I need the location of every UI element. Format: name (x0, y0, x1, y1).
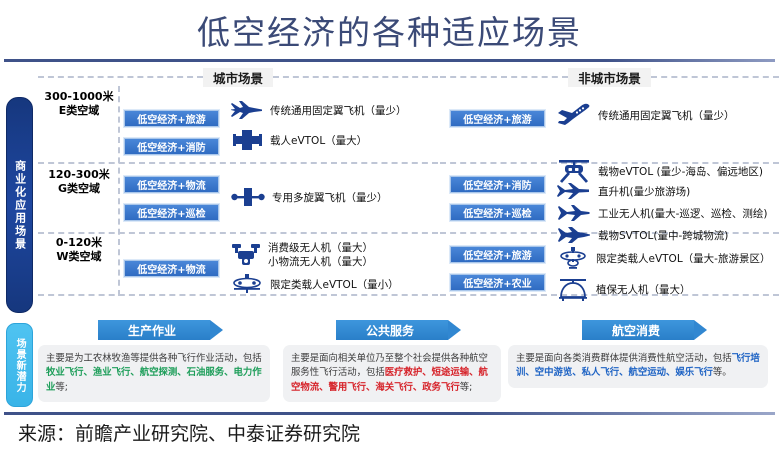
entry-nonurban-cargo-evtol-text: 载物eVTOL (量少-海岛、偏远地区) (598, 164, 763, 179)
entry-nonurban-agri-drone-text: 植保无人机（量大） (596, 282, 691, 297)
entry-urban-consumer-drone-lines: 消费级无人机（量大） 小物流无人机（量大） (268, 241, 373, 269)
desc-aviation-consumption: 主要是面向各类消费群体提供消费性航空活动，包括飞行培训、空中游览、私人飞行、航空… (508, 345, 768, 388)
slide-root: 低空经济的各种适应场景 商业化应用场景 场景新潜力 城市场景 (0, 0, 779, 457)
diagram-body: 商业化应用场景 场景新潜力 城市场景 300-1000米 E类空域 (0, 64, 779, 410)
entry-nonurban-limited-evtol: 限定类载人eVTOL（量大-旅游景区） (556, 246, 770, 270)
scenario-matrix: 城市场景 300-1000米 E类空域 120-300米 G类空域 0-120米 (38, 64, 779, 318)
entry-nonurban-helicopter-text: 直升机(量少旅游场) (598, 184, 690, 199)
banner-production: 生产作业 (98, 320, 210, 340)
footer-divider (4, 412, 775, 415)
altitude-label-e: 300-1000米 E类空域 (38, 90, 120, 118)
entry-nonurban-industrial-drone-text: 工业无人机(量大-巡逻、巡检、测绘) (598, 206, 767, 221)
header-rule-right (273, 76, 438, 78)
entry-urban-limited-evtol-text: 限定类载人eVTOL（量小） (270, 277, 399, 292)
entry-nonurban-cargo-evtol: 载物eVTOL (量少-海岛、偏远地区) (556, 158, 763, 184)
desc-production-p1: 主要是为工农林牧渔等提供各种飞行作业活动，包括 (46, 353, 262, 364)
quadcopter-drone-icon (230, 241, 262, 269)
altitude-label-w: 0-120米 W类空域 (38, 236, 120, 264)
header-rule-left (38, 76, 203, 78)
entry-nonurban-airliner: 传统通用固定翼飞机（量少） (556, 102, 735, 128)
urban-section-header: 城市场景 (38, 68, 438, 86)
entry-urban-evtol: 载人eVTOL（量大） (230, 128, 367, 152)
entry-urban-consumer-drone: 消费级无人机（量大） 小物流无人机（量大） (230, 241, 373, 269)
header-rule-left-2 (440, 76, 568, 78)
airliner-icon (556, 102, 592, 128)
potential-column-aviation-consumption: 航空消费 主要是面向各类消费群体提供消费性航空活动，包括飞行培训、空中游览、私人… (508, 320, 768, 410)
entry-nonurban-helicopter: 直升机(量少旅游场) (556, 182, 690, 200)
sidebar-commercial-scenarios: 商业化应用场景 (6, 97, 33, 313)
banner-production-wrap: 生产作业 (98, 320, 210, 340)
desc-aviation-p2: 等。 (713, 367, 732, 378)
cargo-evtol-icon (556, 158, 592, 184)
entry-nonurban-agri-drone: 植保无人机（量大） (556, 276, 691, 302)
altitude-label-g: 120-300米 G类空域 (38, 168, 120, 196)
nonurban-section-label: 非城市场景 (568, 68, 651, 87)
desc-production-hl: 牧业飞行、渔业飞行、航空探测、石油服务、电力作业 (46, 367, 262, 392)
altitude-airspace-w: W类空域 (38, 250, 120, 264)
tag-nonurban-inspection[interactable]: 低空经济+巡检 (450, 204, 545, 221)
tag-urban-firefighting[interactable]: 低空经济+消防 (124, 138, 219, 155)
evtol-cross-icon (230, 128, 264, 152)
nonurban-section-header: 非城市场景 (440, 68, 779, 86)
altitude-airspace-e: E类空域 (38, 104, 120, 118)
entry-nonurban-industrial-drone: 工业无人机(量大-巡逻、巡检、测绘) (556, 204, 767, 222)
entry-nonurban-cargo-svtol-text: 载物SVTOL(量中-跨城物流) (598, 228, 728, 243)
agri-drone-icon (556, 276, 590, 302)
altitude-range-g: 120-300米 (38, 168, 120, 182)
entry-urban-multirotor-text: 专用多旋翼飞机（量少） (272, 190, 388, 205)
desc-production-p2: 等; (55, 382, 68, 393)
entry-urban-consumer-drone-line1: 消费级无人机（量大） (268, 241, 373, 255)
limited-evtol-icon (230, 273, 264, 295)
altitude-airspace-g: G类空域 (38, 182, 120, 196)
urban-section-label: 城市场景 (203, 68, 273, 87)
entry-urban-limited-evtol: 限定类载人eVTOL（量小） (230, 273, 399, 295)
entry-urban-consumer-drone-line2: 小物流无人机（量大） (268, 255, 373, 269)
helicopter-plane-icon (556, 182, 592, 200)
tag-urban-inspection[interactable]: 低空经济+巡检 (124, 204, 219, 221)
banner-aviation-wrap: 航空消费 (582, 320, 694, 340)
entry-nonurban-limited-evtol-text: 限定类载人eVTOL（量大-旅游景区） (596, 251, 770, 266)
entry-urban-evtol-text: 载人eVTOL（量大） (270, 133, 367, 148)
tag-nonurban-tourism[interactable]: 低空经济+旅游 (450, 110, 545, 127)
tag-urban-logistics[interactable]: 低空经济+物流 (124, 176, 219, 193)
entry-nonurban-cargo-svtol: 载物SVTOL(量中-跨城物流) (556, 226, 728, 244)
header-rule-right-2 (651, 76, 779, 78)
tag-urban-logistics-2[interactable]: 低空经济+物流 (124, 260, 219, 277)
potential-column-production: 生产作业 主要是为工农林牧渔等提供各种飞行作业活动，包括牧业飞行、渔业飞行、航空… (38, 320, 270, 410)
sidebar-commercial-label: 商业化应用场景 (13, 160, 25, 251)
banner-public-service-wrap: 公共服务 (336, 320, 448, 340)
nonurban-column: 非城市场景 低空经济+旅游 低空经济+消防 低空经济+巡检 低空经济+旅游 低空… (440, 64, 779, 318)
fighter-jet-icon (230, 98, 264, 122)
title-divider (4, 59, 775, 62)
entry-urban-fixedwing: 传统通用固定翼飞机（量少） (230, 98, 407, 122)
banner-aviation-consumption: 航空消费 (582, 320, 694, 340)
page-title: 低空经济的各种适应场景 (0, 0, 779, 60)
urban-column: 城市场景 300-1000米 E类空域 120-300米 G类空域 0-120米 (38, 64, 438, 318)
tag-nonurban-firefighting[interactable]: 低空经济+消防 (450, 176, 545, 193)
multirotor-icon (230, 186, 266, 208)
industrial-drone-icon (556, 204, 592, 222)
entry-urban-fixedwing-text: 传统通用固定翼飞机（量少） (270, 103, 407, 118)
tag-nonurban-tourism-2[interactable]: 低空经济+旅游 (450, 246, 545, 263)
source-text: 来源：前瞻产业研究院、中泰证券研究院 (18, 419, 360, 446)
sidebar-new-potential: 场景新潜力 (6, 323, 33, 407)
desc-production: 主要是为工农林牧渔等提供各种飞行作业活动，包括牧业飞行、渔业飞行、航空探测、石油… (38, 345, 270, 402)
potential-column-public-service: 公共服务 主要是面向相关单位乃至整个社会提供各种航空服务性飞行活动，包括医疗救护… (283, 320, 501, 410)
potential-columns: 生产作业 主要是为工农林牧渔等提供各种飞行作业活动，包括牧业飞行、渔业飞行、航空… (38, 320, 779, 410)
banner-public-service: 公共服务 (336, 320, 448, 340)
limited-evtol-outline-icon (556, 246, 590, 270)
altitude-range-w: 0-120米 (38, 236, 120, 250)
cargo-svtol-icon (556, 226, 592, 244)
tag-nonurban-agriculture[interactable]: 低空经济+农业 (450, 274, 545, 291)
tag-urban-tourism[interactable]: 低空经济+旅游 (124, 110, 219, 127)
desc-public-service: 主要是面向相关单位乃至整个社会提供各种航空服务性飞行活动，包括医疗救护、短途运输… (283, 345, 501, 402)
entry-nonurban-airliner-text: 传统通用固定翼飞机（量少） (598, 108, 735, 123)
desc-public-service-p2: 等; (460, 382, 473, 393)
page-title-text: 低空经济的各种适应场景 (197, 6, 582, 54)
entry-urban-multirotor: 专用多旋翼飞机（量少） (230, 186, 388, 208)
desc-aviation-p1: 主要是面向各类消费群体提供消费性航空活动，包括 (516, 353, 732, 364)
altitude-range-e: 300-1000米 (38, 90, 120, 104)
sidebar-potential-label: 场景新潜力 (14, 338, 25, 393)
